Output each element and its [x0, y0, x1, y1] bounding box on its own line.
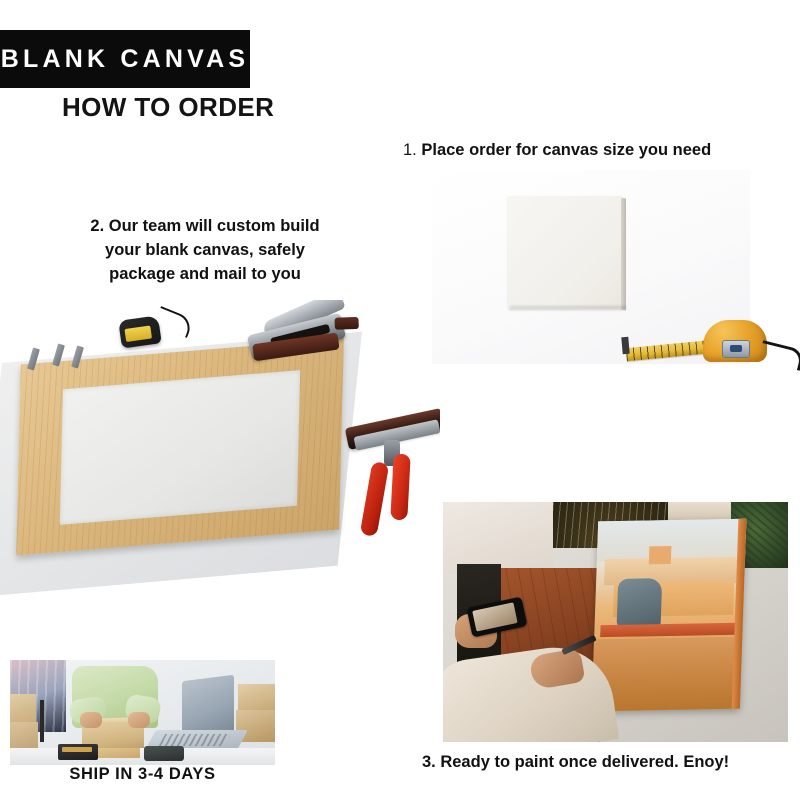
cardboard-box-left-upper	[10, 694, 36, 722]
painting-foreground	[592, 637, 743, 712]
banner-title-text: BLANK CANVAS	[1, 47, 250, 72]
blank-canvas-with-tape-measure-photo	[432, 170, 750, 364]
pliers-handle-right	[390, 454, 410, 521]
blank-canvas-square	[508, 196, 623, 309]
tape-measure-clip	[722, 340, 750, 358]
page-subtitle: HOW TO ORDER	[62, 92, 274, 123]
painting-sky	[597, 519, 747, 562]
calculator	[58, 744, 98, 760]
packing-boxes-with-laptop-photo	[10, 660, 275, 765]
canvas-pliers	[342, 418, 440, 558]
painting-red-band	[600, 623, 737, 637]
artist-painting-on-easel-photo	[443, 502, 788, 742]
cardboard-box-right-upper	[238, 684, 275, 712]
step-3-caption: 3. Ready to paint once delivered. Enoy!	[422, 753, 729, 772]
step-2-line-2: your blank canvas, safely	[55, 239, 355, 263]
step-1-number: 1.	[403, 141, 417, 159]
painted-canvas	[592, 519, 747, 711]
canvas-side-edge	[621, 198, 626, 310]
step-2-caption: 2. Our team will custom build your blank…	[55, 215, 355, 287]
canvas-drop-shadow	[510, 306, 626, 311]
staple-gun-tip	[334, 317, 358, 330]
tape-measure-strap	[758, 340, 800, 371]
step-1-caption: 1. Place order for canvas size you need	[403, 141, 711, 160]
tablet-device	[144, 746, 184, 761]
infographic-page: BLANK CANVAS HOW TO ORDER 1. Place order…	[0, 0, 800, 800]
person-hand-left	[80, 712, 102, 728]
pliers-handle-left	[360, 461, 390, 537]
person-hand-right	[128, 712, 150, 728]
desk-surface	[10, 748, 275, 765]
laptop-keyboard	[159, 734, 231, 746]
wooden-stretcher-frame-with-tools-photo	[0, 300, 440, 600]
clothes-rack-pole	[40, 700, 44, 742]
step-1-text: Place order for canvas size you need	[421, 141, 711, 159]
shipping-time-label: SHIP IN 3-4 DAYS	[20, 765, 265, 784]
frame-inner-canvas	[60, 370, 301, 525]
banner-title-bar: BLANK CANVAS	[0, 30, 250, 88]
step-2-line-1: 2. Our team will custom build	[55, 215, 355, 239]
step-2-line-3: package and mail to you	[55, 263, 355, 287]
painting-chimney	[649, 546, 672, 564]
tape-measure-hook-icon	[621, 337, 629, 355]
painting-figure	[616, 578, 662, 629]
